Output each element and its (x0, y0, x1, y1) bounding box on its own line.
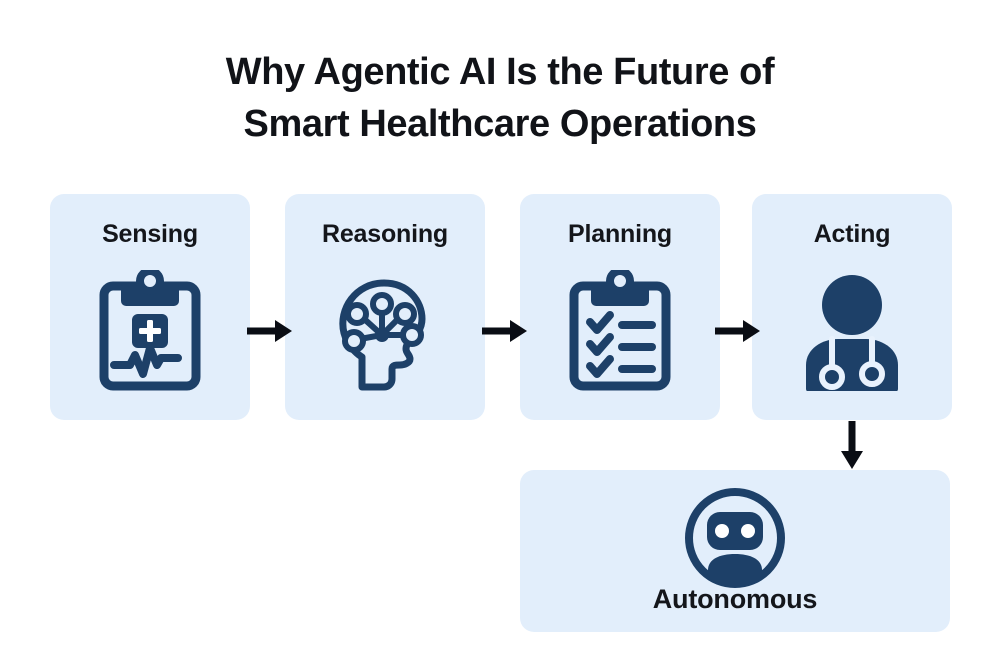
flow-card-label: Reasoning (285, 220, 485, 249)
flow-card-sensing[interactable]: Sensing (50, 194, 250, 420)
clipboard-medical-icon (50, 268, 250, 396)
robot-head-circle-icon (520, 486, 950, 590)
flow-card-label: Autonomous (520, 584, 950, 615)
clipboard-checklist-icon (520, 268, 720, 396)
flow-card-autonomous[interactable]: Autonomous (520, 470, 950, 632)
arrow-down-icon (838, 421, 866, 471)
flow-card-label: Acting (752, 220, 952, 249)
arrow-right-icon (481, 318, 529, 344)
arrow-right-icon (246, 318, 294, 344)
page-title-line-1: Why Agentic AI Is the Future of (0, 46, 1000, 98)
flow-card-reasoning[interactable]: Reasoning (285, 194, 485, 420)
flow-card-label: Sensing (50, 220, 250, 249)
flow-card-planning[interactable]: Planning (520, 194, 720, 420)
page-title: Why Agentic AI Is the Future of Smart He… (0, 46, 1000, 150)
doctor-stethoscope-icon (752, 268, 952, 396)
diagram-canvas: Why Agentic AI Is the Future of Smart He… (0, 0, 1000, 667)
flow-card-acting[interactable]: Acting (752, 194, 952, 420)
page-title-line-2: Smart Healthcare Operations (0, 98, 1000, 150)
head-neural-network-icon (285, 268, 485, 396)
arrow-right-icon (714, 318, 762, 344)
flow-card-label: Planning (520, 220, 720, 249)
